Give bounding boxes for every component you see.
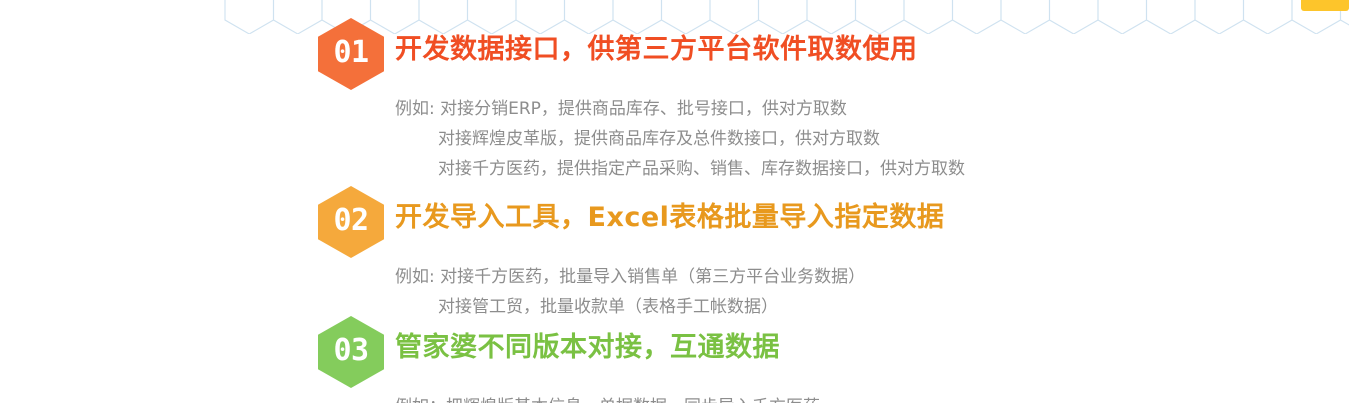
feature-title-03: 管家婆不同版本对接，互通数据 [395,334,780,361]
hex-badge-number: 03 [333,336,368,366]
hex-badge-01: 01 [318,18,384,90]
hex-badge-03: 03 [318,316,384,388]
feature-examples-02: 例如: 对接千方医药，批量导入销售单（第三方平台业务数据） 对接管工贸，批量收款… [395,262,944,322]
hex-badge-number: 01 [333,38,368,68]
feature-title-02: 开发导入工具，Excel表格批量导入指定数据 [395,204,944,231]
feature-header: 01 开发数据接口，供第三方平台软件取数使用 [318,18,965,90]
example-line: 例如: 对接分销ERP，提供商品库存、批号接口，供对方取数 [395,94,965,124]
corner-tag-badge[interactable] [1301,0,1349,11]
example-line: 例如：把辉煌版基本信息、单据数据，同步导入千方医药 [395,392,820,403]
feature-title-01: 开发数据接口，供第三方平台软件取数使用 [395,36,918,63]
feature-block-03: 03 管家婆不同版本对接，互通数据 例如：把辉煌版基本信息、单据数据，同步导入千… [318,316,820,403]
feature-header: 03 管家婆不同版本对接，互通数据 [318,316,820,388]
example-line: 对接辉煌皮革版，提供商品库存及总件数接口，供对方取数 [395,124,965,154]
hex-badge-number: 02 [333,206,368,236]
feature-block-02: 02 开发导入工具，Excel表格批量导入指定数据 例如: 对接千方医药，批量导… [318,186,944,322]
feature-block-01: 01 开发数据接口，供第三方平台软件取数使用 例如: 对接分销ERP，提供商品库… [318,18,965,184]
example-line: 例如: 对接千方医药，批量导入销售单（第三方平台业务数据） [395,262,944,292]
hex-badge-02: 02 [318,186,384,258]
feature-examples-01: 例如: 对接分销ERP，提供商品库存、批号接口，供对方取数 对接辉煌皮革版，提供… [395,94,965,184]
example-line: 对接千方医药，提供指定产品采购、销售、库存数据接口，供对方取数 [395,154,965,184]
feature-examples-03: 例如：把辉煌版基本信息、单据数据，同步导入千方医药 [395,392,820,403]
page-root: 01 开发数据接口，供第三方平台软件取数使用 例如: 对接分销ERP，提供商品库… [0,0,1349,403]
feature-header: 02 开发导入工具，Excel表格批量导入指定数据 [318,186,944,258]
